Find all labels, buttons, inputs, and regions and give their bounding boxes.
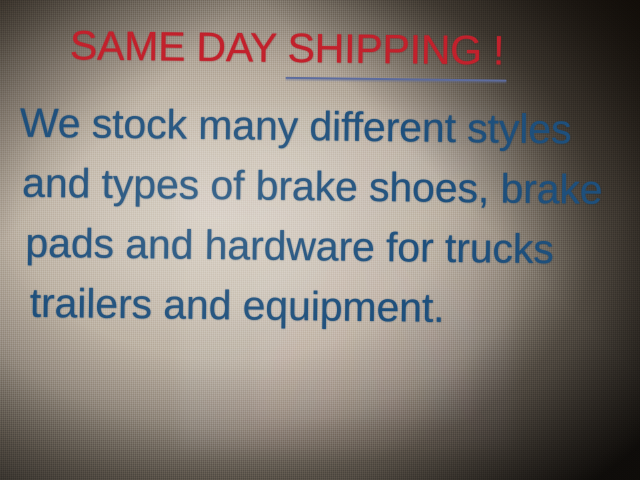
body-line: We stock many different styles [1,92,640,160]
headline-same-day-shipping: SAME DAY SHIPPING ! [70,22,505,74]
headline-underlined-shipping: SHIPPING ! [287,25,504,75]
screen-photograph: SAME DAY SHIPPING ! We stock many differ… [0,0,640,480]
body-line: trailers and equipment. [0,272,639,340]
headline-prefix: SAME DAY [70,22,288,71]
body-line: and types of brake shoes, brake [0,152,640,220]
slide-text-block: SAME DAY SHIPPING ! We stock many differ… [0,0,640,480]
body-paragraph: We stock many different styles and types… [0,92,640,340]
body-line: pads and hardware for trucks [0,212,640,280]
